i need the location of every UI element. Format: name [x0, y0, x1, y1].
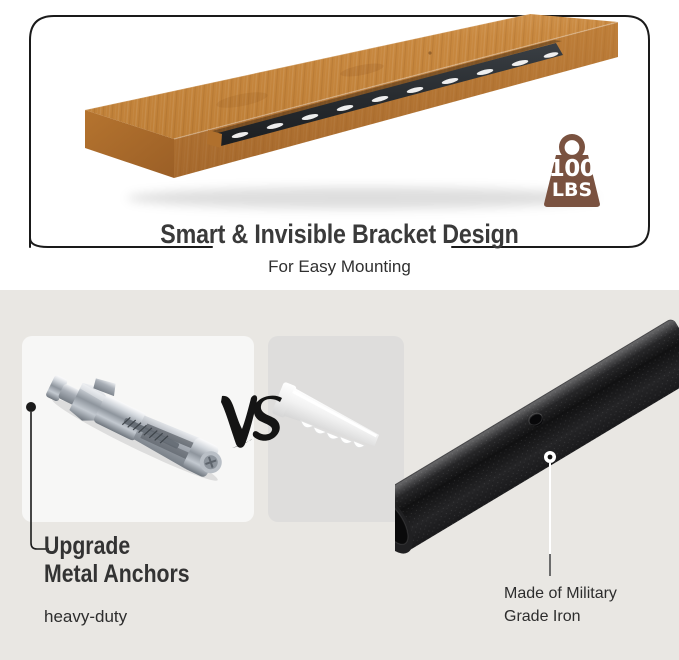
weight-capacity-badge: 100 LBS: [534, 128, 610, 210]
plastic-wall-anchor: [268, 336, 404, 522]
callout-left-subtitle: heavy-duty: [44, 607, 127, 627]
callout-left-title-line1: Upgrade: [44, 532, 190, 560]
callout-right-label: Made of Military Grade Iron: [504, 582, 617, 628]
black-iron-pipe: [395, 300, 679, 570]
page-title: Smart & Invisible Bracket Design: [48, 219, 632, 250]
plastic-anchor-svg: [268, 336, 404, 522]
callout-right-line1: Made of Military: [504, 582, 617, 605]
callout-right-line2: Grade Iron: [504, 605, 617, 628]
page-subtitle: For Easy Mounting: [0, 257, 679, 277]
callout-left-title-line2: Metal Anchors: [44, 560, 190, 588]
weight-value: 100: [534, 158, 610, 181]
product-feature-image: 100 LBS Smart & Invisible Bracket Design…: [0, 0, 679, 660]
top-panel-smart-bracket: 100 LBS Smart & Invisible Bracket Design…: [0, 0, 679, 288]
callout-left-title: Upgrade Metal Anchors: [44, 532, 190, 588]
callout-leader-right-svg: [540, 450, 560, 580]
weight-unit: LBS: [534, 181, 610, 200]
pipe-svg: [395, 300, 679, 570]
vs-icon: [218, 392, 288, 454]
callout-leader-right: [540, 450, 560, 580]
vs-svg: [218, 392, 288, 454]
